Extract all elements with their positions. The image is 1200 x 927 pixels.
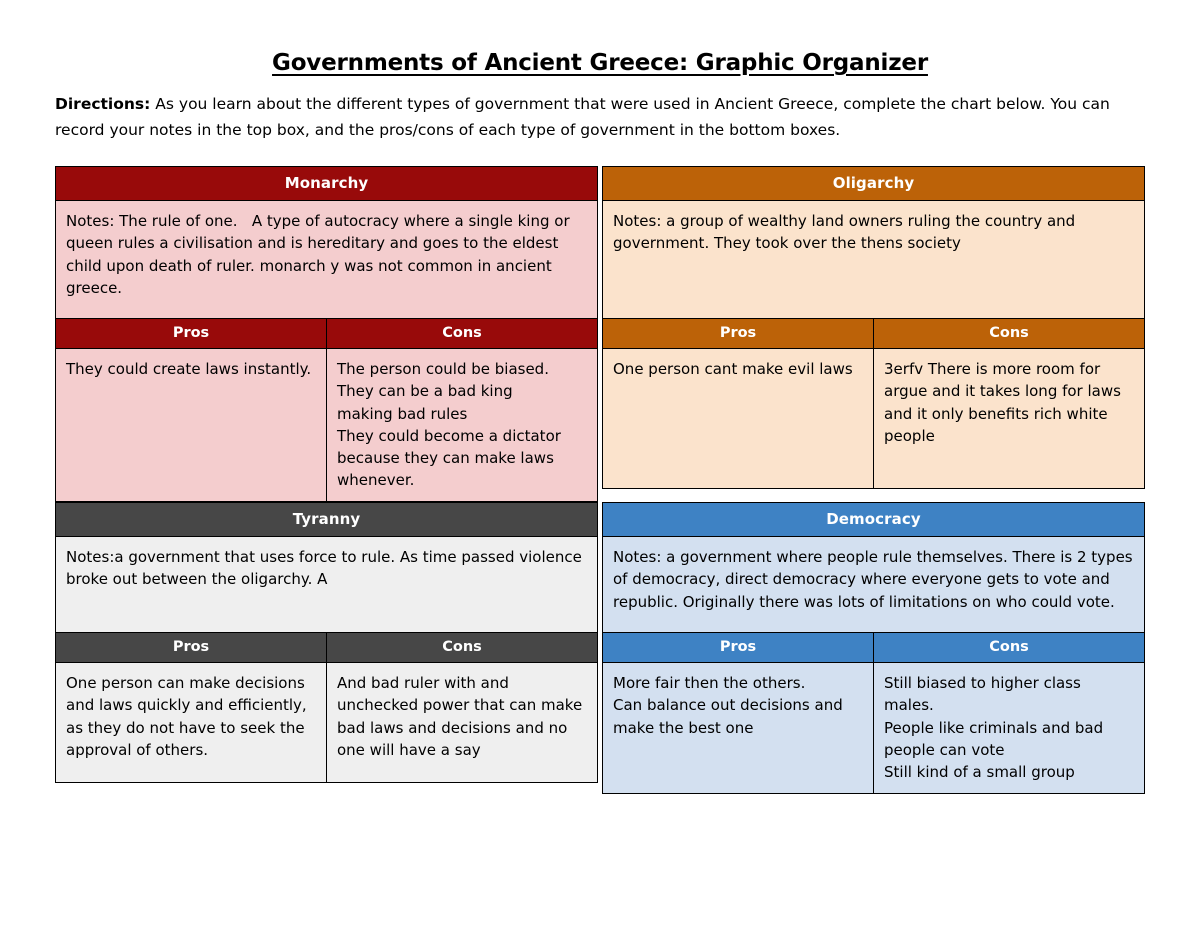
directions-label: Directions: bbox=[55, 95, 150, 113]
democracy-notes-block: Democracy Notes: a government where peop… bbox=[602, 502, 1145, 633]
democracy-pros-header: Pros bbox=[602, 633, 874, 663]
oligarchy-cons-header: Cons bbox=[874, 319, 1145, 349]
tyranny-pros-cell[interactable]: One person can make decisions and laws q… bbox=[55, 663, 327, 783]
band-notes-row-2: Tyranny Notes:a government that uses for… bbox=[55, 502, 1145, 633]
democracy-cons-header: Cons bbox=[874, 633, 1145, 663]
oligarchy-proscons-header: Pros Cons bbox=[602, 319, 1145, 349]
band-proscons-row-2: Pros Cons One person can make decisions … bbox=[55, 633, 1145, 794]
democracy-cons-cell[interactable]: Still biased to higher class males. Peop… bbox=[874, 663, 1145, 794]
democracy-header: Democracy bbox=[602, 502, 1145, 537]
democracy-pros-cell[interactable]: More fair then the others. Can balance o… bbox=[602, 663, 874, 794]
graphic-organizer-table: Monarchy Notes: The rule of one. A type … bbox=[55, 166, 1145, 794]
tyranny-header: Tyranny bbox=[55, 502, 598, 537]
monarchy-notes-block: Monarchy Notes: The rule of one. A type … bbox=[55, 166, 598, 319]
tyranny-notes-block: Tyranny Notes:a government that uses for… bbox=[55, 502, 598, 633]
monarchy-cons-cell[interactable]: The person could be biased. They can be … bbox=[327, 349, 598, 502]
oligarchy-pros-cell[interactable]: One person cant make evil laws bbox=[602, 349, 874, 489]
directions-paragraph: Directions: As you learn about the diffe… bbox=[55, 92, 1145, 143]
monarchy-notes-cell[interactable]: Notes: The rule of one. A type of autocr… bbox=[55, 201, 598, 319]
monarchy-proscons-body: They could create laws instantly. The pe… bbox=[55, 349, 598, 502]
monarchy-pros-cell[interactable]: They could create laws instantly. bbox=[55, 349, 327, 502]
democracy-notes-cell[interactable]: Notes: a government where people rule th… bbox=[602, 537, 1145, 633]
tyranny-cons-header: Cons bbox=[327, 633, 598, 663]
tyranny-pros-header: Pros bbox=[55, 633, 327, 663]
tyranny-proscons-body: One person can make decisions and laws q… bbox=[55, 663, 598, 783]
oligarchy-header: Oligarchy bbox=[602, 166, 1145, 201]
oligarchy-notes-cell[interactable]: Notes: a group of wealthy land owners ru… bbox=[602, 201, 1145, 319]
democracy-proscons-body: More fair then the others. Can balance o… bbox=[602, 663, 1145, 794]
monarchy-proscons-block: Pros Cons They could create laws instant… bbox=[55, 319, 598, 502]
page-title: Governments of Ancient Greece: Graphic O… bbox=[55, 0, 1145, 76]
oligarchy-notes-block: Oligarchy Notes: a group of wealthy land… bbox=[602, 166, 1145, 319]
monarchy-cons-header: Cons bbox=[327, 319, 598, 349]
directions-text: As you learn about the different types o… bbox=[55, 95, 1110, 139]
tyranny-proscons-header: Pros Cons bbox=[55, 633, 598, 663]
monarchy-header: Monarchy bbox=[55, 166, 598, 201]
oligarchy-cons-cell[interactable]: 3erfv There is more room for argue and i… bbox=[874, 349, 1145, 489]
democracy-proscons-header: Pros Cons bbox=[602, 633, 1145, 663]
oligarchy-pros-header: Pros bbox=[602, 319, 874, 349]
worksheet-page: Governments of Ancient Greece: Graphic O… bbox=[0, 0, 1200, 927]
tyranny-proscons-block: Pros Cons One person can make decisions … bbox=[55, 633, 598, 794]
monarchy-pros-header: Pros bbox=[55, 319, 327, 349]
oligarchy-proscons-block: Pros Cons One person cant make evil laws… bbox=[602, 319, 1145, 502]
tyranny-notes-cell[interactable]: Notes:a government that uses force to ru… bbox=[55, 537, 598, 633]
oligarchy-proscons-body: One person cant make evil laws 3erfv The… bbox=[602, 349, 1145, 489]
tyranny-cons-cell[interactable]: And bad ruler with and unchecked power t… bbox=[327, 663, 598, 783]
monarchy-proscons-header: Pros Cons bbox=[55, 319, 598, 349]
band-notes-row-1: Monarchy Notes: The rule of one. A type … bbox=[55, 166, 1145, 319]
band-proscons-row-1: Pros Cons They could create laws instant… bbox=[55, 319, 1145, 502]
democracy-proscons-block: Pros Cons More fair then the others. Can… bbox=[602, 633, 1145, 794]
